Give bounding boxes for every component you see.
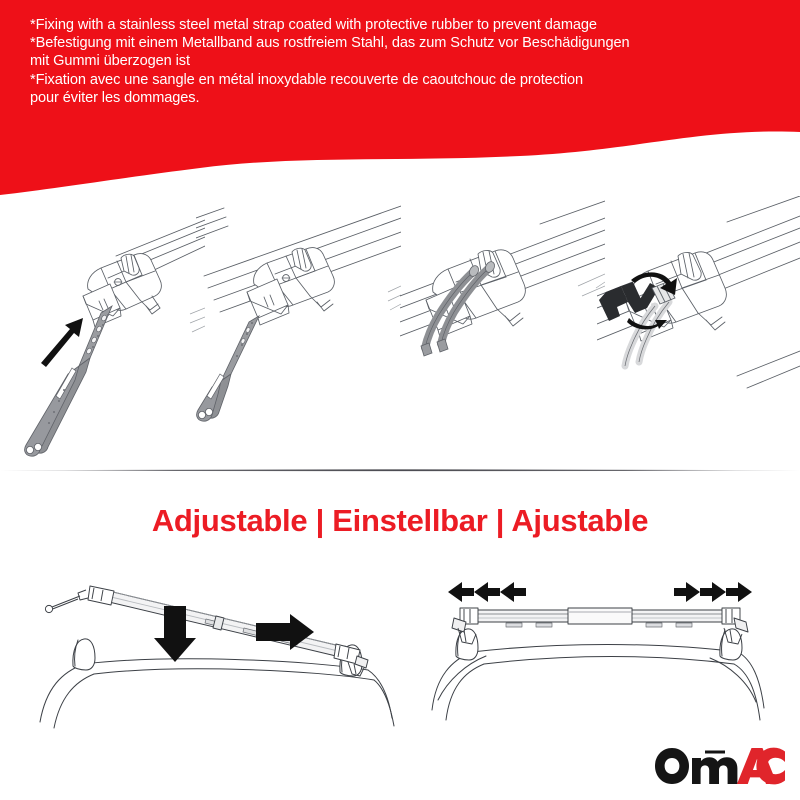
assembly-step-2: [196, 196, 401, 458]
product-infographic-page: *Fixing with a stainless steel metal str…: [0, 0, 800, 800]
step-1-illustration: [0, 196, 205, 458]
arrows-left-triple-icon: [448, 582, 526, 602]
assembly-step-4: [597, 196, 800, 458]
bottom-diagram-row: [0, 560, 800, 730]
assembly-step-3: [400, 196, 605, 458]
crossbar-placement-illustration: [18, 560, 400, 730]
omac-logo-mark: [655, 744, 785, 788]
banner-description-text: *Fixing with a stainless steel metal str…: [30, 16, 785, 107]
step-4-illustration: [597, 196, 800, 458]
insert-arrow-icon: [41, 318, 83, 367]
step-2-illustration: [196, 196, 401, 458]
metal-strap-1: [25, 306, 112, 456]
assembly-steps-strip: [0, 196, 800, 458]
header-banner: *Fixing with a stainless steel metal str…: [0, 0, 800, 195]
step-3-illustration: [400, 196, 605, 458]
crossbar-width-illustration: [408, 560, 792, 730]
crossbar-width-adjust-diagram: [408, 560, 792, 730]
section-divider-line: [0, 470, 800, 471]
arrows-right-triple-icon: [674, 582, 752, 602]
crossbar-placement-diagram: [18, 560, 400, 730]
metal-strap-2: [197, 316, 259, 421]
section-title-adjustable: Adjustable | Einstellbar | Ajustable: [0, 503, 800, 539]
omac-logo: [655, 744, 785, 788]
assembly-step-1: [0, 196, 205, 458]
